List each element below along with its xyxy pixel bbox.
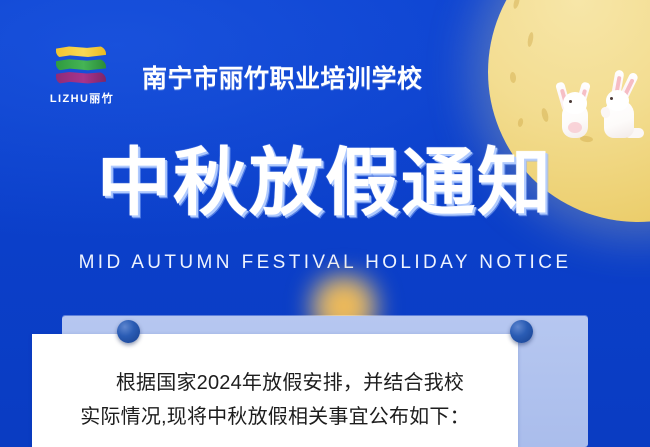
- page-subtitle: MID AUTUMN FESTIVAL HOLIDAY NOTICE: [0, 252, 650, 274]
- notice-line-2: 实际情况,现将中秋放假相关事宜公布如下：: [40, 400, 510, 434]
- rabbit-belly: [568, 122, 582, 133]
- moon-crater: [509, 72, 516, 84]
- pin-left-icon: [117, 320, 140, 343]
- rabbit-eye: [569, 100, 572, 103]
- rabbit-floppy-ears-icon: [554, 82, 598, 138]
- moon-crater: [527, 32, 535, 48]
- moon-crater: [512, 0, 520, 9]
- rabbit-head: [563, 92, 587, 114]
- rabbit-pair: [548, 72, 650, 138]
- rabbit-eye: [610, 97, 613, 100]
- notice-body: 根据国家2024年放假安排，并结合我校 实际情况,现将中秋放假相关事宜公布如下：: [40, 366, 510, 434]
- school-name: 南宁市丽竹职业培训学校: [142, 59, 423, 95]
- rabbit-upright-ears-icon: [598, 74, 648, 138]
- mid-autumn-holiday-notice-poster: LIZHU丽竹 南宁市丽竹职业培训学校 中秋放假通知 MID AUTUMN FE…: [0, 0, 650, 447]
- notice-line-1: 根据国家2024年放假安排，并结合我校: [40, 366, 510, 400]
- brand-header: LIZHU丽竹 南宁市丽竹职业培训学校: [34, 46, 423, 108]
- rabbit-head: [606, 90, 629, 111]
- flag-mark: [56, 46, 106, 88]
- flag-band-green: [56, 59, 106, 71]
- pin-right-icon: [510, 320, 533, 343]
- flag-band-purple: [56, 72, 106, 84]
- lizhu-flag-logo-icon: LIZHU丽竹: [34, 46, 130, 108]
- page-title: 中秋放假通知: [0, 146, 650, 220]
- moon-crater: [517, 118, 524, 128]
- logo-caption: LIZHU丽竹: [34, 90, 130, 106]
- flag-band-yellow: [56, 46, 106, 58]
